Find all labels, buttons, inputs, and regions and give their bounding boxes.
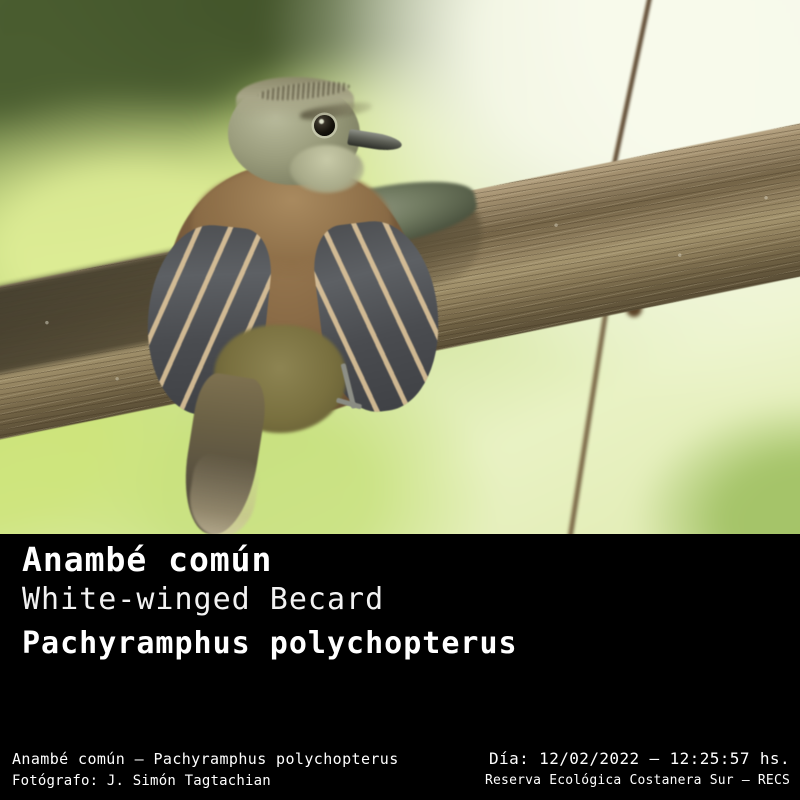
bird-photo-card: Anambé común White-winged Becard Pachyra…: [0, 0, 800, 800]
footer-left: Anambé común – Pachyramphus polychopteru…: [12, 748, 399, 792]
footer-location: Reserva Ecológica Costanera Sur – RECS: [485, 770, 790, 792]
english-name: White-winged Becard: [22, 580, 642, 620]
bird-eye-glint: [319, 119, 324, 124]
bird-photograph: [0, 0, 800, 534]
footer-photographer-line: Fotógrafo: J. Simón Tagtachian: [12, 770, 399, 792]
footer-species-line: Anambé común – Pachyramphus polychopteru…: [12, 748, 399, 770]
bird-throat: [290, 145, 364, 193]
species-titles: Anambé común White-winged Becard Pachyra…: [22, 540, 642, 664]
footer-bar: Anambé común – Pachyramphus polychopteru…: [0, 748, 800, 800]
common-name: Anambé común: [22, 540, 642, 580]
footer-right: Día: 12/02/2022 – 12:25:57 hs. Reserva E…: [485, 748, 790, 792]
bird-eye: [314, 115, 335, 136]
scientific-name: Pachyramphus polychopterus: [22, 624, 642, 664]
bird-figure: [150, 75, 450, 475]
footer-datetime: Día: 12/02/2022 – 12:25:57 hs.: [485, 748, 790, 770]
